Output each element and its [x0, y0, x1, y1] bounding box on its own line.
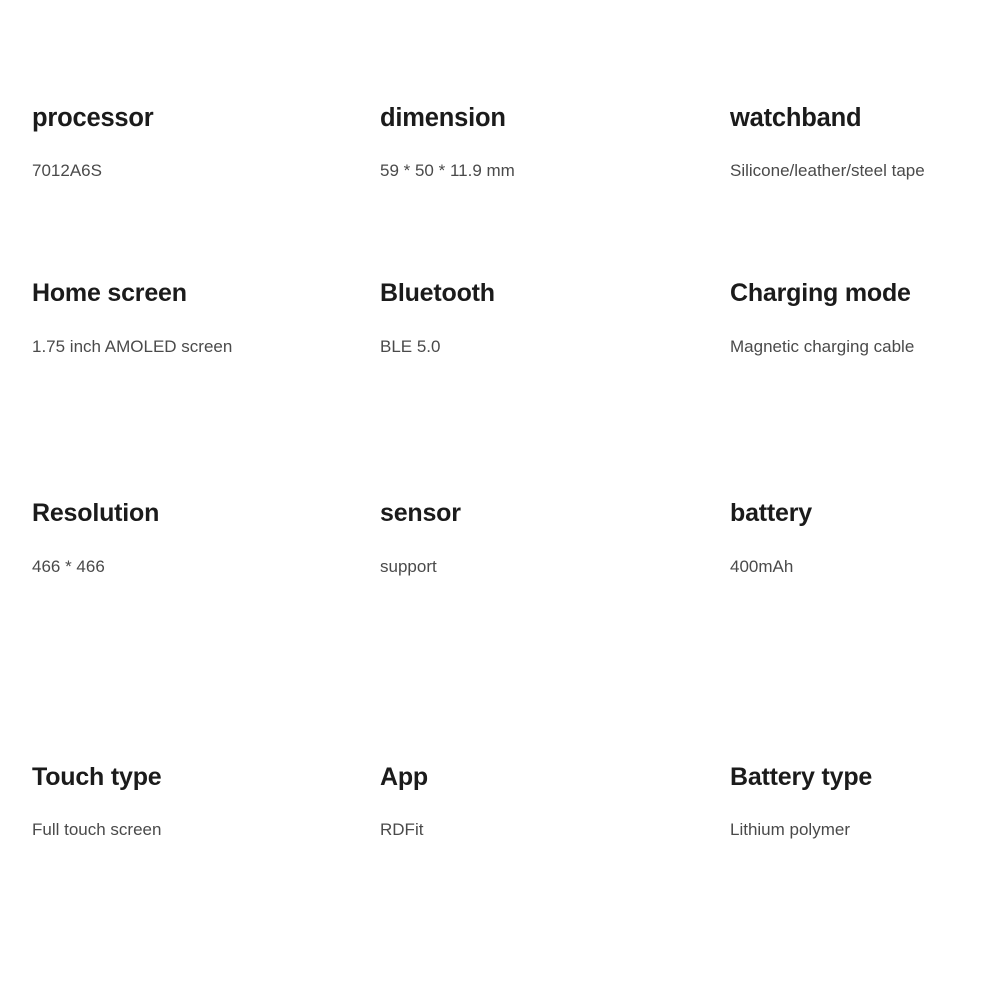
- spec-title: battery: [730, 500, 1000, 528]
- spec-value: Full touch screen: [32, 792, 370, 840]
- spec-item-battery: battery 400mAh: [730, 500, 1000, 764]
- spec-title: watchband: [730, 104, 1000, 132]
- spec-value: Silicone/leather/steel tape: [730, 132, 1000, 181]
- spec-title: App: [380, 764, 720, 792]
- spec-value: support: [380, 528, 720, 577]
- spec-value: 400mAh: [730, 528, 1000, 577]
- spec-title: Bluetooth: [380, 280, 720, 308]
- spec-value: RDFit: [380, 792, 720, 840]
- spec-value: BLE 5.0: [380, 308, 720, 357]
- spec-title: Charging mode: [730, 280, 1000, 308]
- spec-item-touch-type: Touch type Full touch screen: [32, 764, 380, 984]
- spec-item-app: App RDFit: [380, 764, 730, 984]
- spec-value: 466 * 466: [32, 528, 370, 577]
- spec-title: Resolution: [32, 500, 370, 528]
- spec-grid: processor 7012A6S dimension 59 * 50 * 11…: [0, 0, 1000, 984]
- product-spec-sheet: processor 7012A6S dimension 59 * 50 * 11…: [0, 0, 1000, 1000]
- spec-item-charging-mode: Charging mode Magnetic charging cable: [730, 280, 1000, 500]
- spec-item-home-screen: Home screen 1.75 inch AMOLED screen: [32, 280, 380, 500]
- spec-title: Home screen: [32, 280, 370, 308]
- spec-value: 1.75 inch AMOLED screen: [32, 308, 370, 357]
- spec-title: dimension: [380, 104, 720, 132]
- spec-value: Lithium polymer: [730, 792, 1000, 840]
- spec-title: sensor: [380, 500, 720, 528]
- spec-item-bluetooth: Bluetooth BLE 5.0: [380, 280, 730, 500]
- spec-item-processor: processor 7012A6S: [32, 104, 380, 280]
- spec-value: 59 * 50 * 11.9 mm: [380, 132, 720, 181]
- spec-value: Magnetic charging cable: [730, 308, 1000, 357]
- spec-item-sensor: sensor support: [380, 500, 730, 764]
- spec-item-watchband: watchband Silicone/leather/steel tape: [730, 104, 1000, 280]
- spec-item-dimension: dimension 59 * 50 * 11.9 mm: [380, 104, 730, 280]
- spec-title: Battery type: [730, 764, 1000, 792]
- spec-title: Touch type: [32, 764, 370, 792]
- spec-value: 7012A6S: [32, 132, 370, 181]
- spec-item-resolution: Resolution 466 * 466: [32, 500, 380, 764]
- spec-title: processor: [32, 104, 370, 132]
- spec-item-battery-type: Battery type Lithium polymer: [730, 764, 1000, 984]
